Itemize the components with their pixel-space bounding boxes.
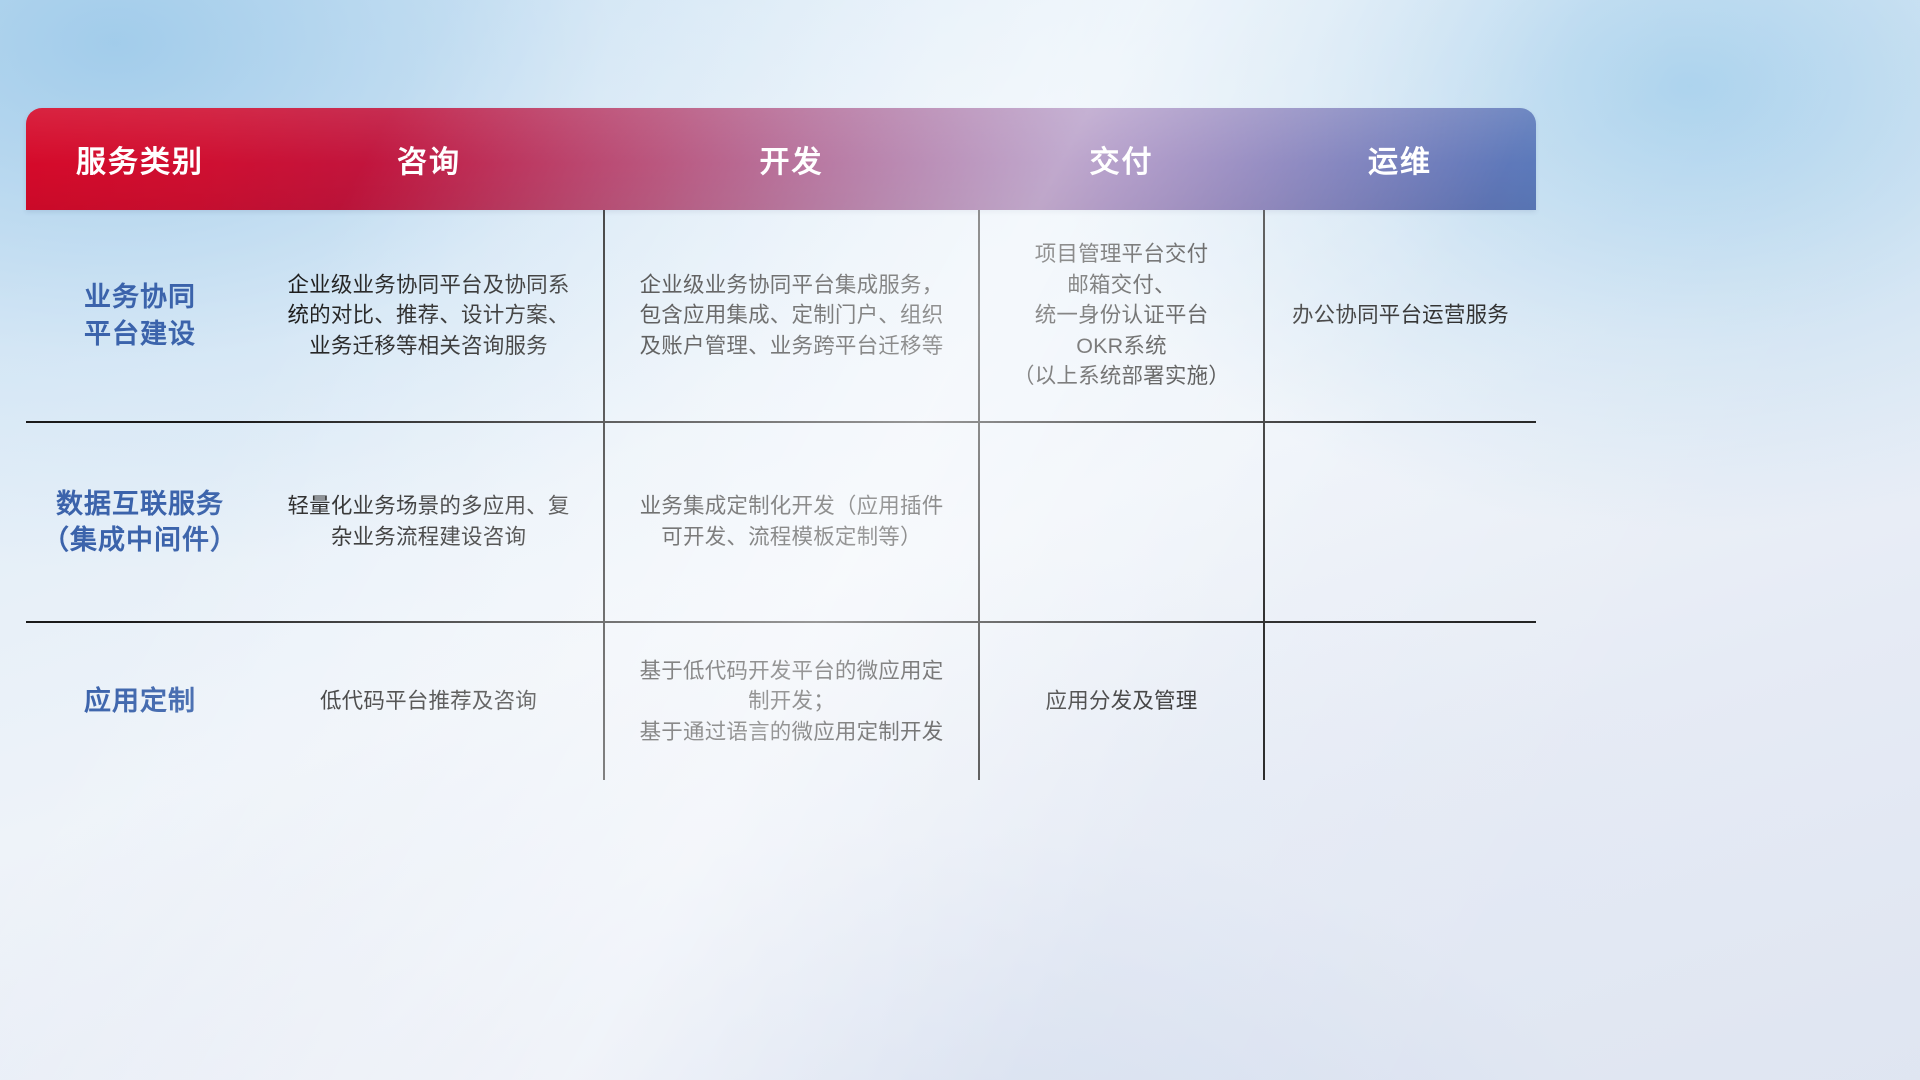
cell-text: 企业级业务协同平台集成服务， 包含应用集成、定制门户、组织 及账户管理、业务跨平…: [619, 270, 964, 362]
cell-text: 轻量化业务场景的多应用、复 杂业务流程建设咨询: [268, 491, 589, 552]
table-row: 应用定制 低代码平台推荐及咨询 基于低代码开发平台的微应用定 制开发； 基于通过…: [26, 622, 1536, 780]
column-header-consulting: 咨询: [254, 108, 604, 210]
cell-text: 基于低代码开发平台的微应用定 制开发； 基于通过语言的微应用定制开发: [619, 656, 964, 748]
category-label: 业务协同 平台建设: [40, 279, 240, 352]
cell-development: 基于低代码开发平台的微应用定 制开发； 基于通过语言的微应用定制开发: [604, 622, 979, 780]
column-header-development: 开发: [604, 108, 979, 210]
table-header-row: 服务类别 咨询 开发 交付 运维: [26, 108, 1536, 210]
page-background: 服务类别 咨询 开发 交付 运维 业务协同 平台建设 企业级业务协同平台及协同系…: [0, 0, 1920, 1080]
cell-consulting: 企业级业务协同平台及协同系 统的对比、推荐、设计方案、 业务迁移等相关咨询服务: [254, 210, 604, 422]
table-row: 业务协同 平台建设 企业级业务协同平台及协同系 统的对比、推荐、设计方案、 业务…: [26, 210, 1536, 422]
cell-development: 企业级业务协同平台集成服务， 包含应用集成、定制门户、组织 及账户管理、业务跨平…: [604, 210, 979, 422]
cell-text: 办公协同平台运营服务: [1279, 300, 1522, 331]
row-category-cell: 业务协同 平台建设: [26, 210, 254, 422]
service-table: 服务类别 咨询 开发 交付 运维 业务协同 平台建设 企业级业务协同平台及协同系…: [26, 108, 1536, 780]
table-head: 服务类别 咨询 开发 交付 运维: [26, 108, 1536, 210]
cell-delivery: 项目管理平台交付 邮箱交付、 统一身份认证平台 OKR系统 （以上系统部署实施）: [979, 210, 1264, 422]
cell-operations: [1264, 622, 1536, 780]
table-row: 数据互联服务 （集成中间件） 轻量化业务场景的多应用、复 杂业务流程建设咨询 业…: [26, 422, 1536, 622]
cell-development: 业务集成定制化开发（应用插件 可开发、流程模板定制等）: [604, 422, 979, 622]
cell-delivery: 应用分发及管理: [979, 622, 1264, 780]
row-category-cell: 应用定制: [26, 622, 254, 780]
cell-delivery: [979, 422, 1264, 622]
row-category-cell: 数据互联服务 （集成中间件）: [26, 422, 254, 622]
cell-consulting: 轻量化业务场景的多应用、复 杂业务流程建设咨询: [254, 422, 604, 622]
column-header-operations: 运维: [1264, 108, 1536, 210]
cell-text: 企业级业务协同平台及协同系 统的对比、推荐、设计方案、 业务迁移等相关咨询服务: [268, 270, 589, 362]
cell-operations: 办公协同平台运营服务: [1264, 210, 1536, 422]
column-header-category: 服务类别: [26, 108, 254, 210]
cell-text: 项目管理平台交付 邮箱交付、 统一身份认证平台 OKR系统 （以上系统部署实施）: [994, 239, 1249, 392]
cell-consulting: 低代码平台推荐及咨询: [254, 622, 604, 780]
table-body: 业务协同 平台建设 企业级业务协同平台及协同系 统的对比、推荐、设计方案、 业务…: [26, 210, 1536, 780]
column-header-delivery: 交付: [979, 108, 1264, 210]
cell-text: 业务集成定制化开发（应用插件 可开发、流程模板定制等）: [619, 491, 964, 552]
service-matrix-table: 服务类别 咨询 开发 交付 运维 业务协同 平台建设 企业级业务协同平台及协同系…: [26, 108, 1536, 780]
category-label: 数据互联服务 （集成中间件）: [40, 486, 240, 559]
cell-text: 应用分发及管理: [994, 686, 1249, 717]
category-label: 应用定制: [40, 683, 240, 719]
cell-text: 低代码平台推荐及咨询: [268, 686, 589, 717]
cell-operations: [1264, 422, 1536, 622]
